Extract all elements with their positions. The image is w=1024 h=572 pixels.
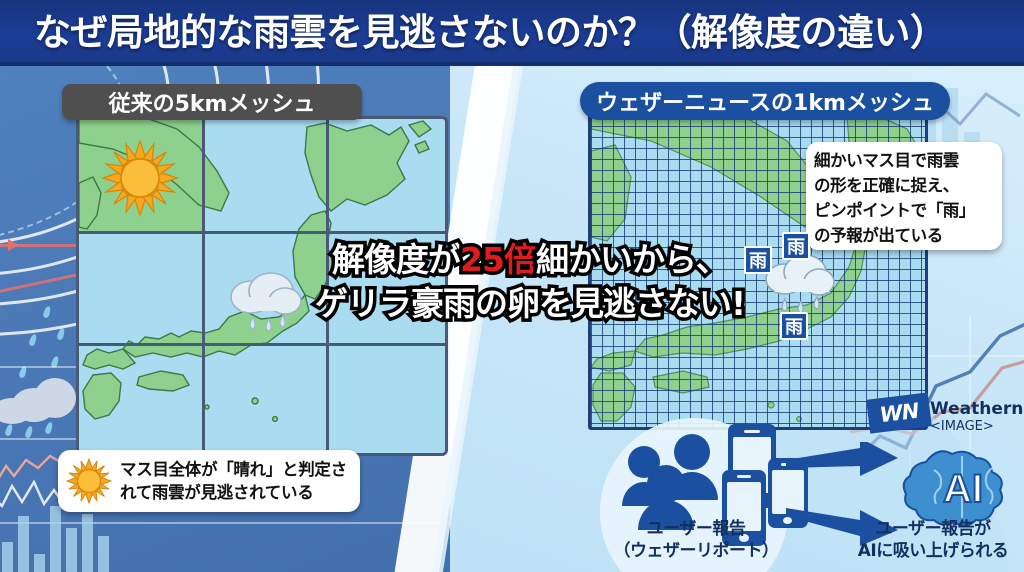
ai-chip-label: AI	[943, 467, 983, 511]
rain-cloud-icon	[223, 267, 309, 339]
grid-line-vertical	[202, 119, 205, 456]
ai-ingest-label-line2: AIに吸い上げられる	[840, 540, 1024, 562]
ai-ingest-label: ユーザー報告が AIに吸い上げられる	[840, 518, 1024, 562]
sun-icon	[101, 139, 179, 217]
rain-badge: 雨	[780, 312, 808, 340]
bar-decoration	[2, 542, 13, 572]
headline-line-1: 解像度が25倍細かいから、	[300, 238, 760, 282]
headline-line2-text: ゲリラ豪雨の卵を見逃さない!	[315, 284, 745, 323]
bar-decoration	[34, 554, 45, 572]
left-panel-header-label: 従来の5kmメッシュ	[109, 86, 316, 118]
infographic-root: 雨 雨 雨 従来の5kmメッシュ ウェザーニュースの1kmメッシュ 細かいマス目…	[0, 0, 1024, 572]
divider	[0, 522, 470, 524]
callout-right-line3: ピンポイントで「雨」	[814, 198, 994, 223]
user-report-label-line2: （ウェザーリポート）	[596, 540, 796, 562]
wind-arrow-icon	[8, 239, 19, 251]
bar-decoration	[18, 516, 29, 572]
sun-icon	[66, 458, 112, 504]
left-panel-header-badge: 従来の5kmメッシュ	[62, 84, 362, 120]
right-panel-header-badge: ウェザーニュースの1kmメッシュ	[580, 82, 950, 120]
raindrop-icon	[24, 425, 33, 438]
bar-decoration	[50, 506, 61, 572]
headline-line-2: ゲリラ豪雨の卵を見逃さない!	[300, 282, 760, 326]
grid-line-horizontal	[79, 231, 448, 234]
weathernews-image-tag: <IMAGE>	[930, 419, 994, 434]
callout-right-line2: の形を正確に捉え、	[814, 173, 994, 198]
headline-line1-post: 細かいから、	[536, 240, 728, 279]
callout-coarse-mesh: マス目全体が「晴れ」と判定さ れて雨雲が見逃されている	[58, 450, 360, 512]
headline-line1-pre: 解像度が	[332, 240, 460, 279]
headline-callout: 解像度が25倍細かいから、 ゲリラ豪雨の卵を見逃さない!	[300, 238, 760, 326]
page-title: なぜ局地的な雨雲を見逃さないのか？（解像度の違い）	[34, 7, 1014, 59]
callout-fine-mesh: 細かいマス目で雨雲 の形を正確に捉え、 ピンポイントで「雨」 の予報が出ている	[806, 142, 1002, 250]
callout-right-line1: 細かいマス目で雨雲	[814, 148, 994, 173]
callout-left-line2: れて雨雲が見逃されている	[120, 481, 350, 504]
user-report-label-line1: ユーザー報告	[596, 518, 796, 540]
callout-left-line1: マス目全体が「晴れ」と判定さ	[120, 458, 350, 481]
grid-line-horizontal	[79, 343, 448, 346]
raindrop-icon	[44, 421, 53, 434]
weathernews-logo-text: WN	[878, 399, 919, 428]
rain-badge: 雨	[782, 232, 810, 260]
bar-decoration	[82, 514, 93, 572]
weathernews-brand-name: Weathernews	[930, 399, 1024, 419]
raindrop-icon	[28, 333, 37, 346]
callout-right-line4: の予報が出ている	[814, 223, 994, 248]
raindrop-icon	[4, 423, 13, 436]
ai-brain-icon: AI	[900, 440, 1024, 530]
callout-left-text: マス目全体が「晴れ」と判定さ れて雨雲が見逃されている	[120, 458, 350, 504]
ai-ingest-label-line1: ユーザー報告が	[840, 518, 1024, 540]
right-panel-header-label: ウェザーニュースの1kmメッシュ	[596, 85, 934, 117]
bar-decoration	[66, 528, 77, 572]
user-group-icon	[618, 430, 738, 530]
user-report-label: ユーザー報告 （ウェザーリポート）	[596, 518, 796, 562]
title-underline	[0, 62, 1024, 66]
cloud-icon	[34, 378, 76, 418]
bar-decoration	[98, 536, 109, 572]
headline-highlight: 25倍	[460, 240, 536, 279]
